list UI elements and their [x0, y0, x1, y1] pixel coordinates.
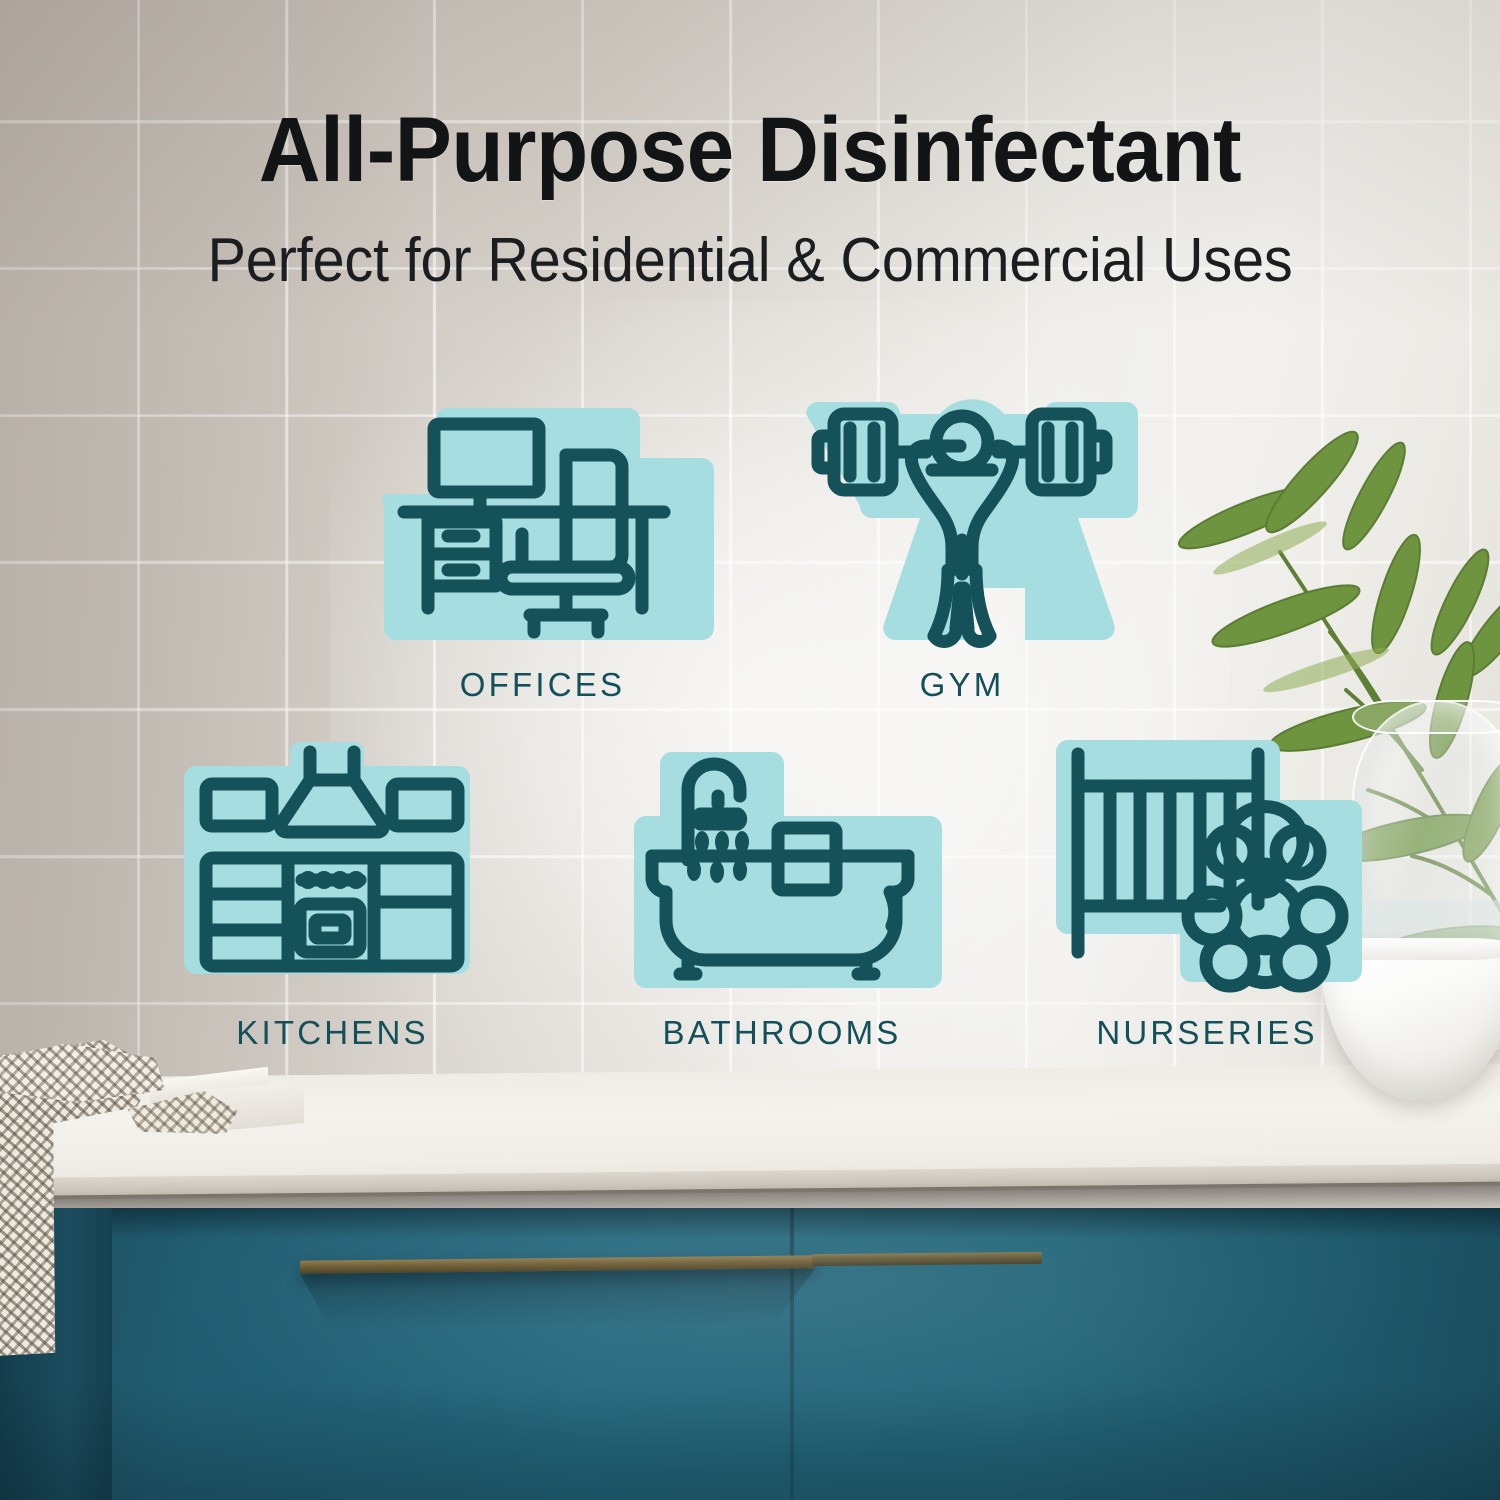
- glass-vase-rim: [1352, 700, 1500, 734]
- drawer-handle-secondary: [812, 1252, 1042, 1266]
- feature-label-bathrooms: BATHROOMS: [622, 1014, 942, 1052]
- feature-offices[interactable]: OFFICES: [370, 398, 715, 653]
- feature-nurseries[interactable]: NURSERIES: [1042, 730, 1372, 1002]
- feature-label-kitchens: KITCHENS: [170, 1014, 495, 1052]
- feature-label-offices: OFFICES: [370, 666, 715, 704]
- cabinet-seam: [790, 1208, 794, 1500]
- feature-kitchens[interactable]: KITCHENS: [170, 736, 495, 998]
- feature-bathrooms[interactable]: BATHROOMS: [622, 742, 942, 1000]
- weightlifter-barbell-icon: [792, 392, 1132, 654]
- kitchen-cabinets-stove-icon: [170, 736, 495, 998]
- feature-label-nurseries: NURSERIES: [1042, 1014, 1372, 1052]
- towel-fold-secondary: [127, 1089, 239, 1143]
- feature-label-gym: GYM: [792, 666, 1132, 704]
- page-title: All-Purpose Disinfectant: [53, 104, 1448, 196]
- feature-gym[interactable]: GYM: [792, 392, 1132, 654]
- product-lifestyle-scene: All-Purpose Disinfectant Perfect for Res…: [0, 0, 1500, 1500]
- page-subtitle: Perfect for Residential & Commercial Use…: [53, 228, 1448, 293]
- cabinet-top-shadow: [112, 1208, 1500, 1238]
- crib-teddy-bear-icon: [1042, 730, 1372, 1002]
- office-desk-chair-icon: [370, 398, 715, 653]
- drawer-handle-shadow: [300, 1268, 815, 1329]
- houndstooth-towel: [0, 1034, 240, 1357]
- bathtub-shower-icon: [622, 742, 942, 1000]
